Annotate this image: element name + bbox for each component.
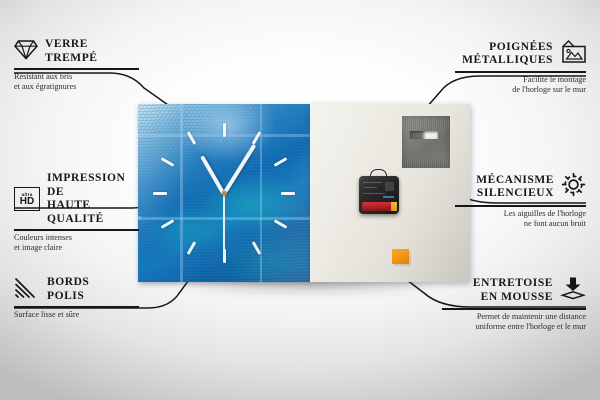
feature-title: BORDS POLIS — [47, 276, 89, 303]
gear-icon — [561, 172, 586, 202]
movement-battery — [362, 202, 393, 211]
clock-center-cap — [222, 191, 227, 196]
polished-edges-icon — [14, 276, 40, 303]
ultra-hd-badge-icon: ultra HD — [14, 187, 40, 211]
foam-spacer-icon — [560, 276, 586, 305]
bracket-slot — [410, 131, 438, 139]
foam-spacer — [392, 249, 409, 264]
feature-title: VERRE TREMPÉ — [45, 38, 98, 65]
battery-label — [362, 202, 393, 211]
bracket-grain — [402, 116, 450, 168]
feature-subtitle: Facilite le montage de l'horloge sur le … — [455, 75, 586, 95]
clock-tick-9 — [153, 192, 167, 195]
feature-title: ENTRETOISE EN MOUSSE — [473, 277, 553, 304]
feature-title: MÉCANISME SILENCIEUX — [476, 174, 554, 201]
movement-detail-1 — [363, 182, 382, 183]
feature-rule — [442, 308, 586, 310]
feature-title: POIGNÉES MÉTALLIQUES — [462, 41, 553, 68]
battery-terminal — [391, 202, 397, 211]
feature-verre-trempe: VERRE TREMPÉ Résistant aux bris et aux é… — [14, 38, 139, 93]
feature-subtitle: Couleurs intenses et image claire — [14, 233, 139, 253]
feature-subtitle: Permet de maintenir une distance uniform… — [442, 312, 586, 332]
clock-tick-12 — [223, 123, 226, 137]
movement-hanger-loop — [370, 169, 387, 179]
ultra-hd-badge-large-text: HD — [20, 197, 34, 207]
clock-tick-3 — [281, 192, 295, 195]
feature-bords-polis: BORDS POLIS Surface lisse et sûre — [14, 276, 139, 320]
infographic-canvas: VERRE TREMPÉ Résistant aux bris et aux é… — [0, 0, 600, 400]
feature-impression-haute-qualite: ultra HD IMPRESSION DE HAUTE QUALITÉ Cou… — [14, 172, 139, 254]
feature-subtitle: Surface lisse et sûre — [14, 310, 139, 320]
metal-hanger-bracket — [402, 116, 450, 168]
movement-detail-5 — [383, 196, 394, 198]
picture-hanger-icon — [560, 40, 586, 68]
feature-subtitle: Résistant aux bris et aux égratignures — [14, 72, 139, 92]
feature-entretoise-en-mousse: ENTRETOISE EN MOUSSE Permet de maintenir… — [442, 276, 586, 333]
quartz-movement — [359, 176, 399, 214]
movement-detail-2 — [363, 187, 377, 188]
feature-rule — [14, 68, 139, 70]
feature-subtitle: Les aiguilles de l'horloge ne font aucun… — [455, 209, 586, 229]
feature-rule — [455, 71, 586, 73]
feature-rule — [14, 229, 139, 231]
clock-second-hand — [223, 193, 224, 255]
feature-mecanisme-silencieux: MÉCANISME SILENCIEUX Les aiguilles de l'… — [455, 172, 586, 230]
feature-poignees-metalliques: POIGNÉES MÉTALLIQUES Facilite le montage… — [455, 40, 586, 96]
movement-detail-4 — [363, 193, 385, 194]
feature-rule — [14, 306, 139, 308]
diamond-icon — [14, 39, 38, 65]
clock-back-panel — [310, 104, 470, 282]
feature-rule — [455, 205, 586, 207]
movement-detail-3 — [385, 182, 394, 191]
clock-front-face — [138, 104, 310, 282]
feature-title: IMPRESSION DE HAUTE QUALITÉ — [47, 172, 139, 226]
product-image — [138, 104, 470, 286]
